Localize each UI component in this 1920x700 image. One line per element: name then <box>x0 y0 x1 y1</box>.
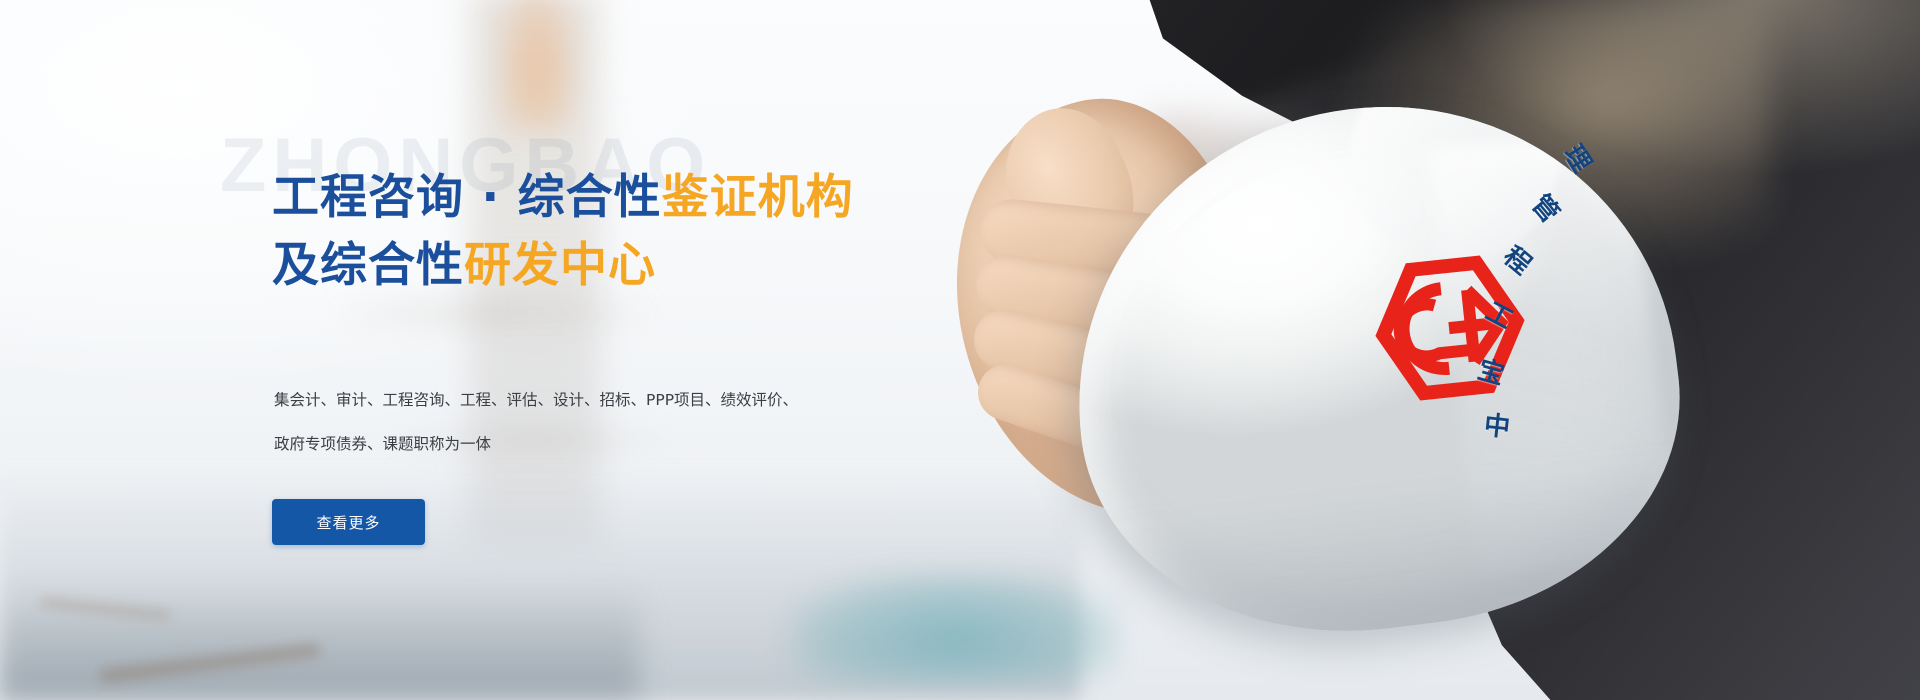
hero-description: 集会计、审计、工程咨询、工程、评估、设计、招标、PPP项目、绩效评价、 政府专项… <box>274 378 874 466</box>
headline-line1-gold: 鉴证机构 <box>662 170 854 225</box>
description-line-2: 政府专项债券、课题职称为一体 <box>274 422 874 466</box>
helmet-brand-text: 理 管 程 工 宝 中 <box>1468 148 1668 458</box>
page-title: 工程咨询 · 综合性鉴证机构 及综合性研发中心 <box>272 164 972 299</box>
helmet-char-1: 管 <box>1527 191 1564 228</box>
headline-line2-blue: 及综合性 <box>272 238 464 293</box>
hero-banner: 理 管 程 工 宝 中 ZHONGBAO 工程咨询 · 综合性鉴证机构 及综合性… <box>0 0 1920 700</box>
helmet-char-5: 中 <box>1483 413 1512 442</box>
helmet-char-4: 宝 <box>1475 357 1507 389</box>
description-line-1: 集会计、审计、工程咨询、工程、评估、设计、招标、PPP项目、绩效评价、 <box>274 378 874 422</box>
helmet-char-3: 工 <box>1481 298 1516 333</box>
hero-content: ZHONGBAO 工程咨询 · 综合性鉴证机构 及综合性研发中心 集会计、审计、… <box>272 0 992 700</box>
helmet-char-2: 程 <box>1499 243 1536 280</box>
headline-line2-gold: 研发中心 <box>464 238 656 293</box>
headline-line2: 及综合性研发中心 <box>272 232 972 300</box>
headline-line1-blue: 工程咨询 · 综合性 <box>272 170 662 225</box>
view-more-button[interactable]: 查看更多 <box>272 499 425 545</box>
